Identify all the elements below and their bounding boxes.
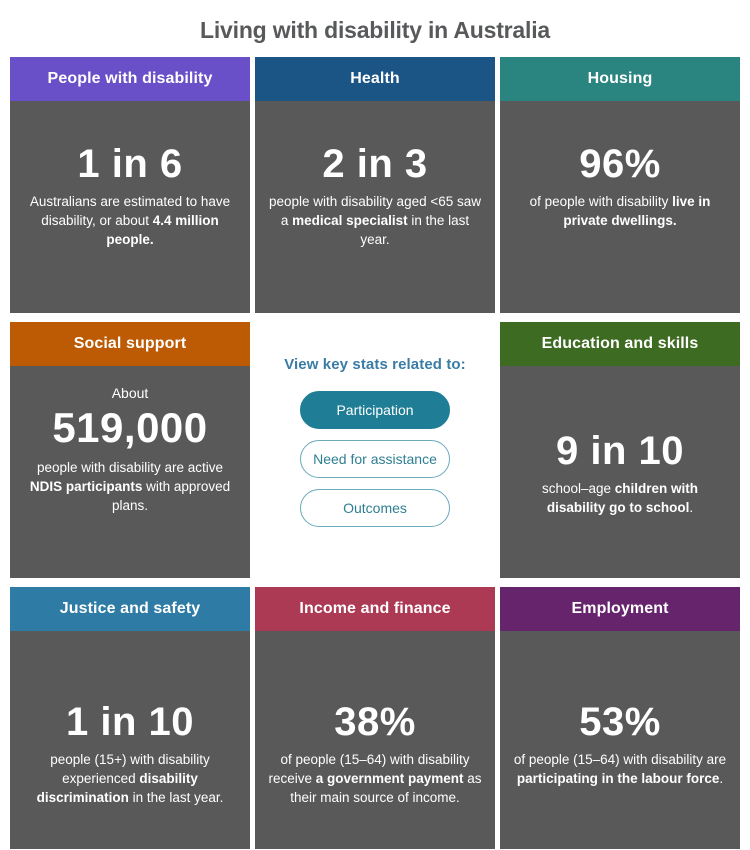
stat-value-employment: 53% bbox=[579, 699, 661, 745]
stat-description-income-and-finance: of people (15–64) with disability receiv… bbox=[268, 750, 482, 807]
card-body-housing: 96%of people with disability live in pri… bbox=[500, 101, 740, 313]
promo-button-participation[interactable]: Participation bbox=[300, 391, 450, 429]
card-body-people-with-disability: 1 in 6Australians are estimated to have … bbox=[10, 101, 250, 313]
promo-title: View key stats related to: bbox=[284, 356, 466, 373]
card-employment: Employment53%of people (15–64) with disa… bbox=[500, 587, 740, 849]
card-social-support: Social supportAbout519,000people with di… bbox=[10, 322, 250, 578]
promo-button-need-for-assistance[interactable]: Need for assistance bbox=[300, 440, 450, 478]
stat-value-income-and-finance: 38% bbox=[334, 699, 416, 745]
stat-value-education-and-skills: 9 in 10 bbox=[556, 428, 684, 474]
card-body-social-support: About519,000people with disability are a… bbox=[10, 366, 250, 578]
card-header-justice-and-safety[interactable]: Justice and safety bbox=[10, 587, 250, 631]
card-education-and-skills: Education and skills9 in 10school–age ch… bbox=[500, 322, 740, 578]
stat-description-people-with-disability: Australians are estimated to have disabi… bbox=[23, 192, 237, 249]
page-title: Living with disability in Australia bbox=[0, 0, 750, 45]
stat-description-social-support: people with disability are active NDIS p… bbox=[23, 458, 237, 515]
stat-value-housing: 96% bbox=[579, 141, 661, 187]
stat-value-justice-and-safety: 1 in 10 bbox=[66, 699, 194, 745]
promo-panel: View key stats related to:ParticipationN… bbox=[255, 322, 495, 578]
card-income-and-finance: Income and finance38%of people (15–64) w… bbox=[255, 587, 495, 849]
card-header-people-with-disability[interactable]: People with disability bbox=[10, 57, 250, 101]
card-header-employment[interactable]: Employment bbox=[500, 587, 740, 631]
card-justice-and-safety: Justice and safety1 in 10people (15+) wi… bbox=[10, 587, 250, 849]
stat-prefix-social-support: About bbox=[112, 384, 149, 403]
card-header-social-support[interactable]: Social support bbox=[10, 322, 250, 366]
stat-value-social-support: 519,000 bbox=[52, 403, 207, 453]
card-header-income-and-finance[interactable]: Income and finance bbox=[255, 587, 495, 631]
card-body-employment: 53%of people (15–64) with disability are… bbox=[500, 631, 740, 849]
stat-value-health: 2 in 3 bbox=[322, 141, 427, 187]
stats-grid: People with disability1 in 6Australians … bbox=[10, 57, 740, 849]
stat-value-people-with-disability: 1 in 6 bbox=[77, 141, 182, 187]
stat-description-employment: of people (15–64) with disability are pa… bbox=[513, 750, 727, 788]
infographic-page: Living with disability in Australia Peop… bbox=[0, 0, 750, 850]
card-header-health[interactable]: Health bbox=[255, 57, 495, 101]
stat-description-justice-and-safety: people (15+) with disability experienced… bbox=[23, 750, 237, 807]
stat-description-health: people with disability aged <65 saw a me… bbox=[268, 192, 482, 249]
card-body-income-and-finance: 38%of people (15–64) with disability rec… bbox=[255, 631, 495, 849]
card-body-justice-and-safety: 1 in 10people (15+) with disability expe… bbox=[10, 631, 250, 849]
card-health: Health2 in 3people with disability aged … bbox=[255, 57, 495, 313]
promo-button-outcomes[interactable]: Outcomes bbox=[300, 489, 450, 527]
stat-description-housing: of people with disability live in privat… bbox=[513, 192, 727, 230]
card-housing: Housing96%of people with disability live… bbox=[500, 57, 740, 313]
card-header-education-and-skills[interactable]: Education and skills bbox=[500, 322, 740, 366]
card-people-with-disability: People with disability1 in 6Australians … bbox=[10, 57, 250, 313]
card-body-health: 2 in 3people with disability aged <65 sa… bbox=[255, 101, 495, 313]
card-header-housing[interactable]: Housing bbox=[500, 57, 740, 101]
card-body-education-and-skills: 9 in 10school–age children with disabili… bbox=[500, 366, 740, 578]
stat-description-education-and-skills: school–age children with disability go t… bbox=[513, 479, 727, 517]
